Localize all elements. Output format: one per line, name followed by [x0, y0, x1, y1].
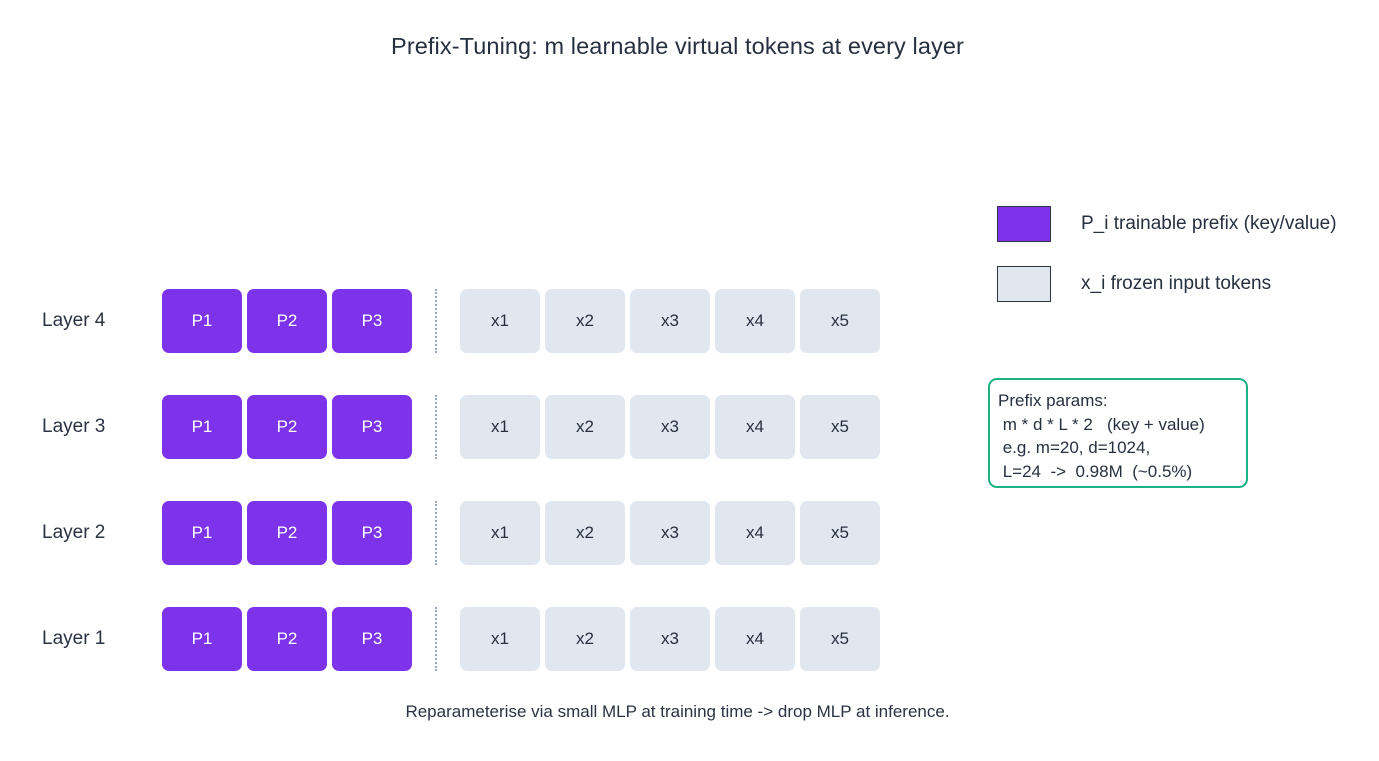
input-token-cell[interactable]: x3 [630, 395, 710, 459]
prefix-token-cell[interactable]: P1 [162, 395, 242, 459]
layer-label: Layer 4 [42, 289, 105, 353]
input-token-cell[interactable]: x1 [460, 607, 540, 671]
prefix-token-cell[interactable]: P1 [162, 501, 242, 565]
info-line: Prefix params: [998, 389, 1246, 413]
input-token-group: x1x2x3x4x5 [460, 501, 880, 565]
diagram-caption: Reparameterise via small MLP at training… [0, 702, 1355, 722]
input-token-cell[interactable]: x4 [715, 607, 795, 671]
input-token-cell[interactable]: x5 [800, 289, 880, 353]
legend-row: x_i frozen input tokens [997, 266, 1271, 302]
prefix-token-cell[interactable]: P2 [247, 501, 327, 565]
prefix-token-group: P1P2P3 [162, 289, 412, 353]
input-token-cell[interactable]: x2 [545, 289, 625, 353]
prefix-token-cell[interactable]: P3 [332, 501, 412, 565]
prefix-input-divider [435, 607, 437, 671]
info-line: e.g. m=20, d=1024, [998, 436, 1246, 460]
info-line: L=24 -> 0.98M (~0.5%) [998, 460, 1246, 484]
input-token-group: x1x2x3x4x5 [460, 607, 880, 671]
input-token-cell[interactable]: x3 [630, 607, 710, 671]
input-token-cell[interactable]: x2 [545, 607, 625, 671]
prefix-token-cell[interactable]: P1 [162, 289, 242, 353]
input-token-cell[interactable]: x1 [460, 395, 540, 459]
prefix-token-group: P1P2P3 [162, 607, 412, 671]
info-line: m * d * L * 2 (key + value) [998, 413, 1246, 437]
prefix-token-cell[interactable]: P2 [247, 607, 327, 671]
legend-swatch-prefix-icon [997, 206, 1051, 242]
prefix-token-cell[interactable]: P3 [332, 395, 412, 459]
input-token-cell[interactable]: x1 [460, 289, 540, 353]
input-token-group: x1x2x3x4x5 [460, 395, 880, 459]
prefix-params-info-box: Prefix params: m * d * L * 2 (key + valu… [988, 378, 1248, 488]
input-token-cell[interactable]: x4 [715, 501, 795, 565]
input-token-cell[interactable]: x1 [460, 501, 540, 565]
input-token-cell[interactable]: x4 [715, 289, 795, 353]
input-token-group: x1x2x3x4x5 [460, 289, 880, 353]
input-token-cell[interactable]: x5 [800, 501, 880, 565]
prefix-input-divider [435, 395, 437, 459]
prefix-input-divider [435, 501, 437, 565]
prefix-token-cell[interactable]: P1 [162, 607, 242, 671]
input-token-cell[interactable]: x2 [545, 395, 625, 459]
layer-label: Layer 2 [42, 501, 105, 565]
prefix-token-group: P1P2P3 [162, 395, 412, 459]
legend-row: P_i trainable prefix (key/value) [997, 206, 1337, 242]
prefix-token-group: P1P2P3 [162, 501, 412, 565]
input-token-cell[interactable]: x4 [715, 395, 795, 459]
prefix-token-cell[interactable]: P3 [332, 289, 412, 353]
legend-label: P_i trainable prefix (key/value) [1081, 213, 1337, 235]
prefix-token-cell[interactable]: P2 [247, 395, 327, 459]
input-token-cell[interactable]: x3 [630, 501, 710, 565]
page-title: Prefix-Tuning: m learnable virtual token… [0, 33, 1355, 60]
prefix-token-cell[interactable]: P2 [247, 289, 327, 353]
input-token-cell[interactable]: x5 [800, 607, 880, 671]
input-token-cell[interactable]: x3 [630, 289, 710, 353]
legend-label: x_i frozen input tokens [1081, 273, 1271, 295]
prefix-input-divider [435, 289, 437, 353]
layer-label: Layer 3 [42, 395, 105, 459]
layer-label: Layer 1 [42, 607, 105, 671]
legend-swatch-token-icon [997, 266, 1051, 302]
input-token-cell[interactable]: x5 [800, 395, 880, 459]
prefix-token-cell[interactable]: P3 [332, 607, 412, 671]
input-token-cell[interactable]: x2 [545, 501, 625, 565]
